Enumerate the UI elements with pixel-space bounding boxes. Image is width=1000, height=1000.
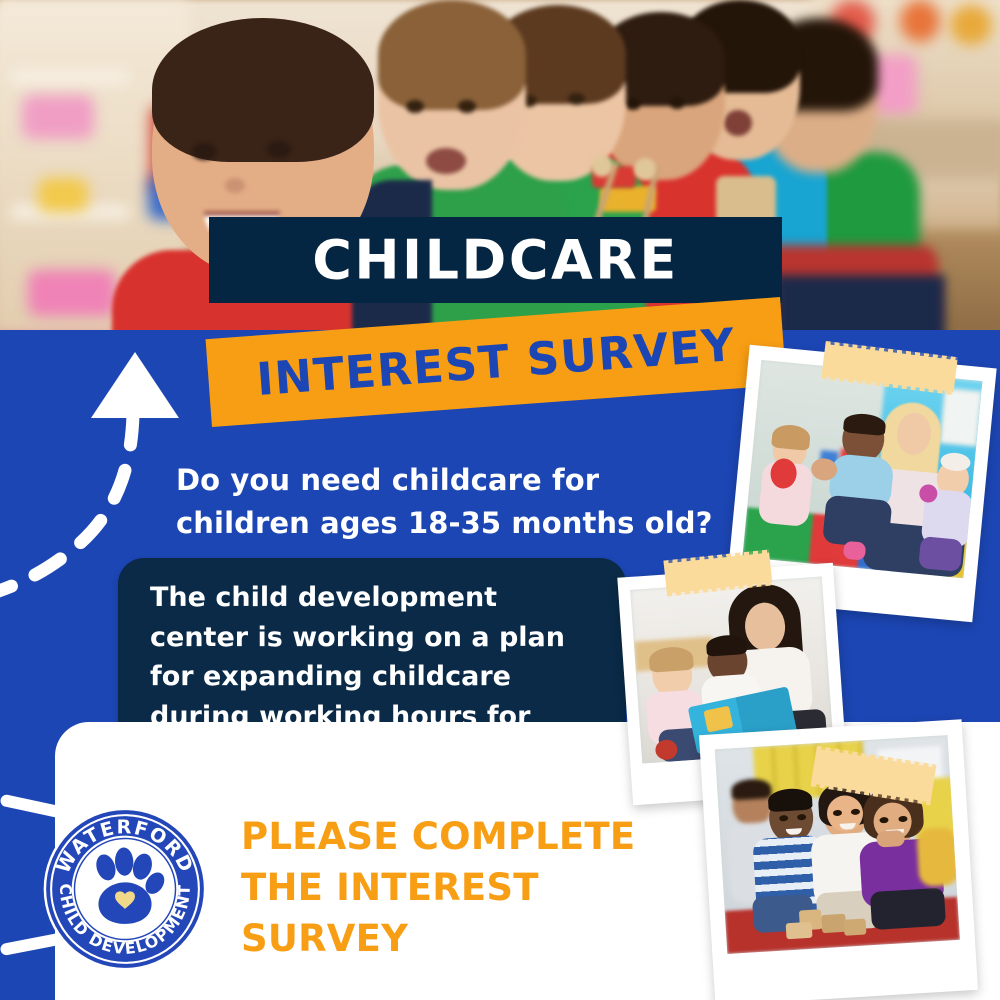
toy-ball-orange	[900, 0, 940, 42]
hero-child-1-hair	[152, 18, 374, 162]
p1-toddler-right-shoe	[918, 536, 963, 572]
toy-bin-pink-1	[22, 95, 94, 139]
hero-child-2-hair	[378, 0, 526, 110]
waterford-child-development-logo: WATERFORD CHILD DEVELOPMENT	[42, 806, 208, 972]
hero-child-2-mouth	[426, 148, 466, 174]
hero-child-5-eye-right	[748, 78, 763, 89]
p1-toddler-center-sock	[843, 541, 867, 561]
hero-child-1-eye-right	[267, 141, 291, 158]
hero-child-6-pants	[775, 275, 945, 336]
title-banner-primary: CHILDCARE	[209, 217, 782, 303]
hero-child-4-eye-left	[625, 98, 641, 110]
hero-child-2-eye-right	[458, 100, 476, 113]
toy-bin-pink-2	[28, 270, 116, 316]
hero-child-2-eye-left	[406, 100, 424, 113]
p3-block-2	[821, 914, 846, 933]
p3-block-3	[786, 922, 813, 940]
hero-child-1-eye-left	[192, 143, 216, 160]
hero-child-3-eye-right	[568, 93, 585, 105]
p3-kid-right-blur	[916, 827, 959, 887]
hero-child-2	[378, 0, 526, 190]
shelf-board-1	[10, 70, 130, 84]
p1-wall-frame	[939, 388, 982, 447]
hero-child-1-nose	[225, 178, 245, 193]
instrument-mallet-head-1	[591, 155, 613, 177]
p3-kid3-arm	[876, 830, 905, 848]
hero-child-5-mouth	[724, 110, 752, 136]
title-line-1: CHILDCARE	[209, 229, 782, 292]
question-text: Do you need childcare for children ages …	[176, 459, 736, 545]
toy-yellow-block	[38, 178, 88, 212]
instrument-mallet-head-2	[634, 158, 656, 180]
toy-ball-yellow	[950, 5, 992, 45]
poster-canvas: CHILDCARE INTEREST SURVEY Do you need ch…	[0, 0, 1000, 1000]
p3-block-4	[844, 918, 867, 935]
p3-kid3-pants	[870, 888, 946, 930]
hero-child-4-eye-right	[669, 97, 685, 109]
p1-toddler-center-pants	[822, 495, 892, 549]
cta-text: PLEASE COMPLETE THE INTEREST SURVEY	[241, 811, 671, 964]
